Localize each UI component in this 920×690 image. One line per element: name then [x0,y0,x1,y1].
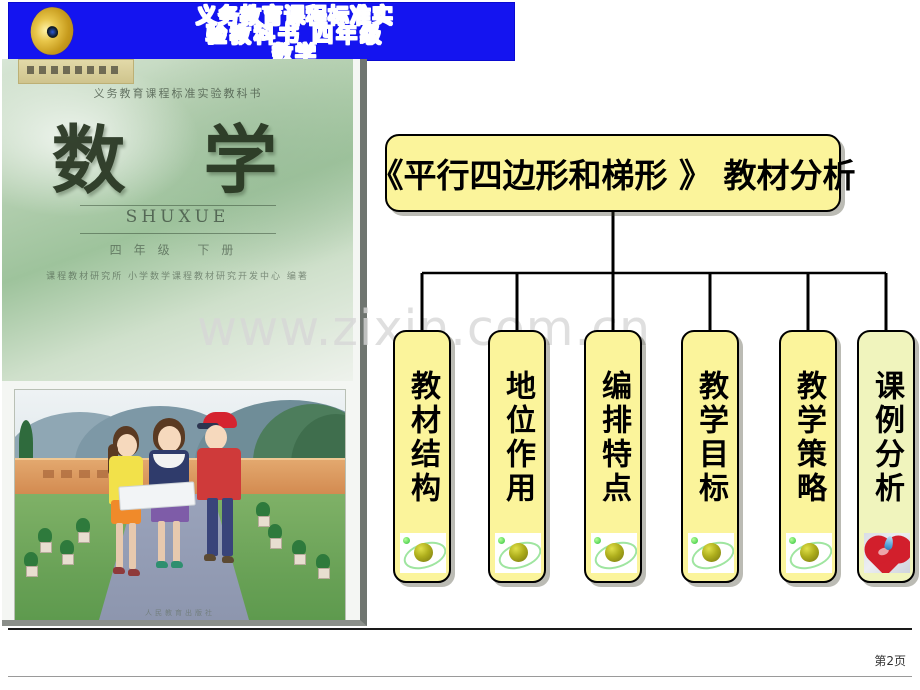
atom-icon [495,533,541,573]
diagram-node-3-label: 编排特点 [598,348,628,528]
diagram-title-text: 《平行四边形和梯形 》 教材分析 [371,149,856,197]
diagram-node-5[interactable]: 教学策略 [779,330,837,583]
diagram-node-6[interactable]: 课例分析 [857,330,915,583]
diagram-node-1-label: 教材结构 [407,348,437,528]
diagram-node-3[interactable]: 编排特点 [584,330,642,583]
atom-icon [400,533,446,573]
atom-icon [786,533,832,573]
slide-canvas: 义务教育课程标准实 验教科书 四年级 数学 义务教育课程标准实验教科书 数 学 … [0,0,920,690]
atom-icon [688,533,734,573]
heart-icon [864,533,910,573]
diagram-node-4-label: 教学目标 [695,348,725,528]
page-number: 第2页 [874,652,906,669]
diagram-node-5-label: 教学策略 [793,348,823,528]
structure-diagram: 《平行四边形和梯形 》 教材分析 教材结构 地位作用 编排特点 教学目标 [0,0,920,620]
diagram-node-1[interactable]: 教材结构 [393,330,451,583]
diagram-node-6-label: 课例分析 [871,348,901,528]
diagram-node-2[interactable]: 地位作用 [488,330,546,583]
diagram-node-4[interactable]: 教学目标 [681,330,739,583]
diagram-title-box[interactable]: 《平行四边形和梯形 》 教材分析 [385,134,841,212]
atom-icon [591,533,637,573]
footer-divider-bottom [8,676,912,677]
footer-divider-top [8,628,912,630]
diagram-node-2-label: 地位作用 [502,348,532,528]
